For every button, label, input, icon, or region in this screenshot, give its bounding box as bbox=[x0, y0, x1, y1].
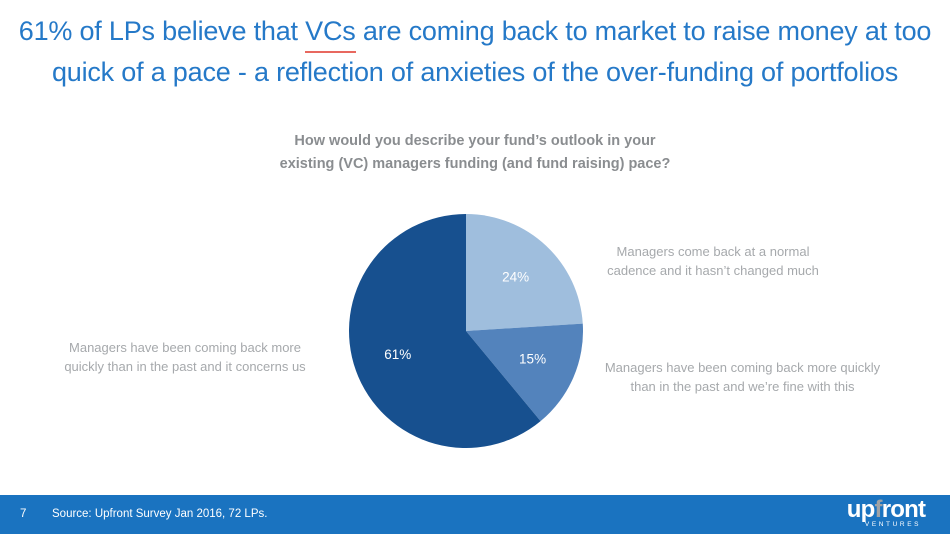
callout-label-bottom-right: Managers have been coming back more quic… bbox=[580, 358, 905, 396]
callout-left-line-1: Managers have been coming back more bbox=[40, 338, 330, 357]
chart-question-line-1: How would you describe your fund’s outlo… bbox=[0, 130, 950, 153]
footer-page-number: 7 bbox=[20, 506, 26, 522]
logo-word-accent: f bbox=[875, 496, 882, 523]
pie-chart-svg: 24% 15% 61% bbox=[349, 214, 583, 448]
callout-left-line-2: quickly than in the past and it concerns… bbox=[40, 357, 330, 376]
logo-wordmark: upfront bbox=[830, 497, 942, 522]
slide: 61% of LPs believe that VCs are coming b… bbox=[0, 0, 950, 534]
upfront-ventures-logo: upfront VENTURES bbox=[830, 497, 942, 532]
title-line-2: quick of a pace - a reflection of anxiet… bbox=[0, 53, 950, 91]
title-text-before: 61% of LPs believe that bbox=[19, 16, 305, 46]
callout-bottom-right-line-2: than in the past and we’re fine with thi… bbox=[580, 377, 905, 396]
callout-label-top-right: Managers come back at a normal cadence a… bbox=[588, 242, 838, 280]
pie-slice-label-24: 24% bbox=[502, 270, 529, 285]
callout-label-left: Managers have been coming back more quic… bbox=[40, 338, 330, 376]
callout-top-right-line-2: cadence and it hasn’t changed much bbox=[588, 261, 838, 280]
pie-slice-label-61: 61% bbox=[384, 347, 411, 362]
pie-chart: 24% 15% 61% bbox=[349, 214, 583, 448]
footer-source-note: Source: Upfront Survey Jan 2016, 72 LPs. bbox=[52, 506, 267, 522]
logo-word-part-2: ront bbox=[882, 496, 925, 523]
callout-top-right-line-1: Managers come back at a normal bbox=[588, 242, 838, 261]
footer-bar: 7 Source: Upfront Survey Jan 2016, 72 LP… bbox=[0, 495, 950, 534]
pie-slice-label-15: 15% bbox=[519, 351, 546, 366]
chart-question-line-2: existing (VC) managers funding (and fund… bbox=[0, 153, 950, 176]
page-title: 61% of LPs believe that VCs are coming b… bbox=[0, 12, 950, 91]
title-text-after: are coming back to market to raise money… bbox=[356, 16, 932, 46]
chart-area: 24% 15% 61% Managers have been coming ba… bbox=[0, 190, 950, 470]
title-flagged-word: VCs bbox=[305, 12, 355, 53]
callout-bottom-right-line-1: Managers have been coming back more quic… bbox=[580, 358, 905, 377]
title-line-1: 61% of LPs believe that VCs are coming b… bbox=[0, 12, 950, 53]
chart-question: How would you describe your fund’s outlo… bbox=[0, 130, 950, 175]
logo-word-part-1: up bbox=[847, 496, 875, 523]
